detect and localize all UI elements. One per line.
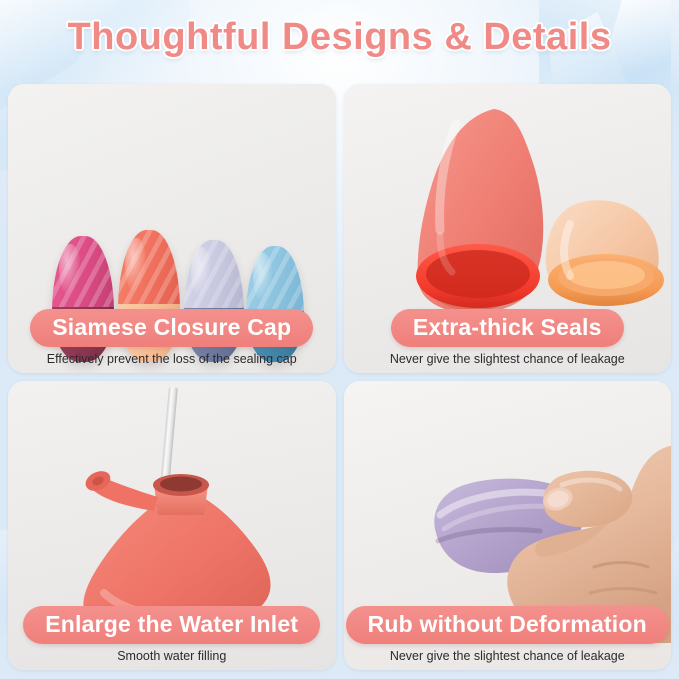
card-title-enlarge-water-inlet: Enlarge the Water Inlet — [23, 606, 320, 644]
caption-enlarge-water-inlet: Enlarge the Water Inlet Smooth water fil… — [8, 606, 336, 670]
seal-coral-object — [416, 109, 543, 312]
card-title-rub-without-deformation: Rub without Deformation — [346, 606, 669, 644]
feature-card-rub-without-deformation: Rub without Deformation Never give the s… — [344, 381, 672, 670]
poster-background: Thoughtful Designs & Details — [0, 0, 679, 679]
card-subtitle-enlarge-water-inlet: Smooth water filling — [8, 649, 336, 663]
card-subtitle-siamese-closure-cap: Effectively prevent the loss of the seal… — [8, 352, 336, 366]
feature-grid: Siamese Closure Cap Effectively prevent … — [8, 84, 671, 670]
card-title-extra-thick-seals: Extra-thick Seals — [391, 309, 624, 347]
caption-siamese-closure-cap: Siamese Closure Cap Effectively prevent … — [8, 309, 336, 373]
card-title-siamese-closure-cap: Siamese Closure Cap — [30, 309, 313, 347]
seal-peach-object — [545, 200, 663, 306]
caption-extra-thick-seals: Extra-thick Seals Never give the slighte… — [344, 309, 672, 373]
feature-card-siamese-closure-cap: Siamese Closure Cap Effectively prevent … — [8, 84, 336, 373]
caption-rub-without-deformation: Rub without Deformation Never give the s… — [344, 606, 672, 670]
feature-card-enlarge-water-inlet: Enlarge the Water Inlet Smooth water fil… — [8, 381, 336, 670]
feature-card-extra-thick-seals: Extra-thick Seals Never give the slighte… — [344, 84, 672, 373]
page-title: Thoughtful Designs & Details — [0, 16, 679, 59]
card-subtitle-rub-without-deformation: Never give the slightest chance of leaka… — [344, 649, 672, 663]
card-subtitle-extra-thick-seals: Never give the slightest chance of leaka… — [344, 352, 672, 366]
